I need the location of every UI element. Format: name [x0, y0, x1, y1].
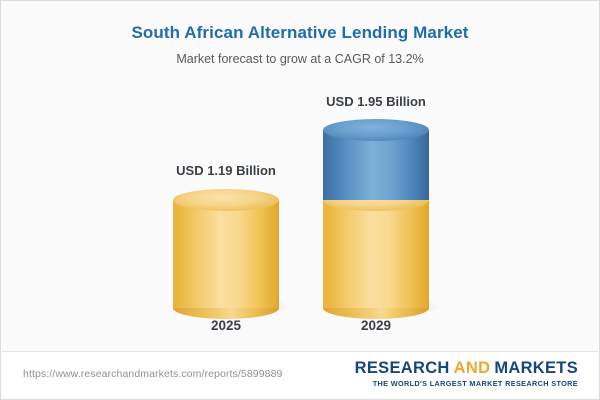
- cylinder-top-cap-2025: [173, 189, 279, 211]
- category-label-2029: 2029: [323, 318, 429, 333]
- research-and-markets-logo[interactable]: RESEARCHANDMARKETS THE WORLD'S LARGEST M…: [355, 360, 578, 388]
- category-label-2025: 2025: [173, 318, 279, 333]
- infographic-card: South African Alternative Lending Market…: [0, 0, 600, 400]
- chart-plot-area: USD 1.19 Billion 2025 USD 1.95 Billion: [1, 1, 600, 353]
- logo-word-markets: MARKETS: [494, 359, 578, 377]
- cylinder-body-2025: [173, 200, 279, 308]
- logo-word-research: RESEARCH: [355, 359, 450, 377]
- logo-wordmark: RESEARCHANDMARKETS: [355, 360, 578, 377]
- logo-word-and: AND: [454, 359, 491, 377]
- cylinder-top-cap-2029: [323, 119, 429, 141]
- report-url[interactable]: https://www.researchandmarkets.com/repor…: [23, 368, 282, 380]
- footer-bar: https://www.researchandmarkets.com/repor…: [2, 351, 598, 398]
- cylinder-body-gold-2029: [323, 200, 429, 308]
- bar-value-label-2029: USD 1.95 Billion: [276, 94, 476, 109]
- logo-tagline: THE WORLD'S LARGEST MARKET RESEARCH STOR…: [355, 379, 578, 388]
- bar-value-label-2025: USD 1.19 Billion: [126, 163, 326, 178]
